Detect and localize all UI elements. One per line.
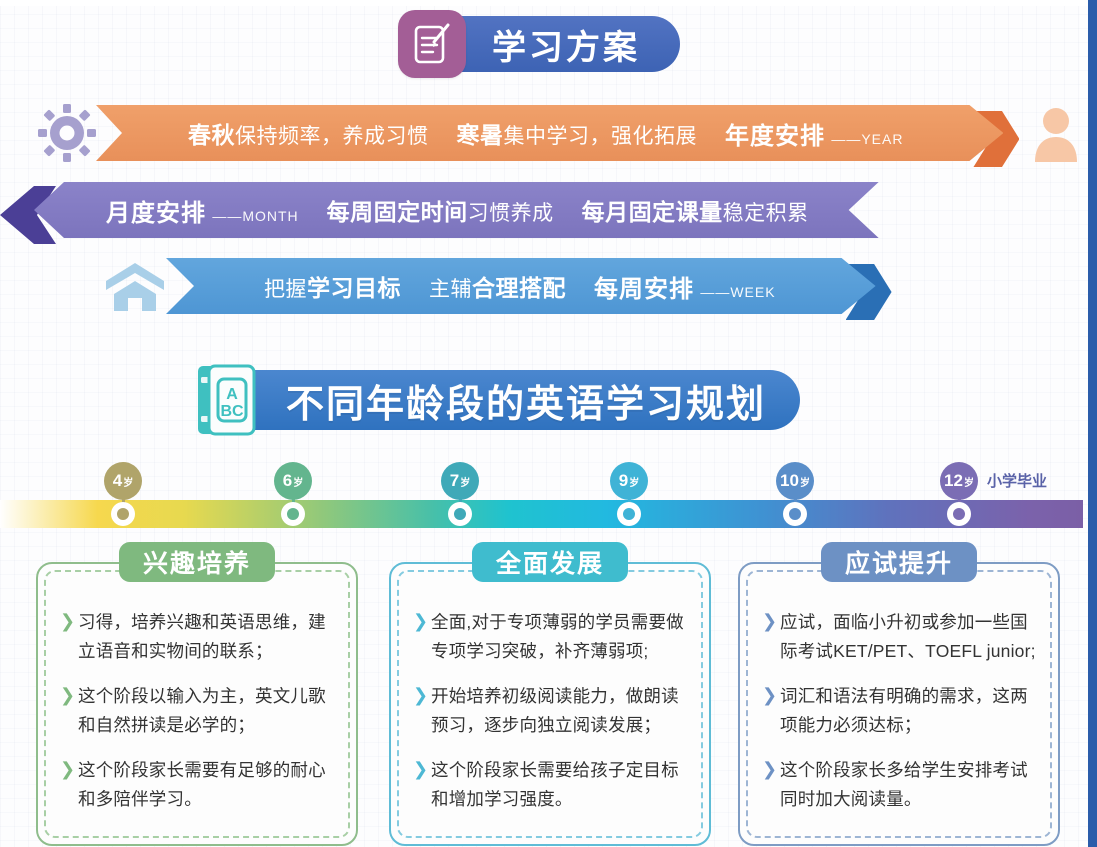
banner-week-seg-2: 主辅合理搭配: [429, 269, 566, 303]
chevron-right-icon: ❯: [762, 756, 780, 782]
timeline-badge-6: 6岁: [274, 462, 312, 500]
timeline-dot-10: [783, 502, 807, 526]
chevron-right-icon: ❯: [60, 682, 78, 708]
stage-card-development: 全面发展 ❯全面,对于专项薄弱的学员需要做专项学习突破，补齐薄弱项; ❯开始培养…: [389, 562, 711, 846]
banner-month-bar: 月度安排 ——MONTH 每周固定时间习惯养成 每月固定课量稳定积累: [34, 182, 879, 238]
book-letter-bottom: BC: [220, 403, 244, 420]
banner-week-title: 每周安排 ——WEEK: [594, 269, 776, 304]
list-item: ❯应试，面临小升初或参加一些国际考试KET/PET、TOEFL junior;: [762, 608, 1042, 666]
timeline-dot-6: [281, 502, 305, 526]
stage-card-exam: 应试提升 ❯应试，面临小升初或参加一些国际考试KET/PET、TOEFL jun…: [738, 562, 1060, 846]
list-item: ❯开始培养初级阅读能力，做朗读预习，逐步向独立阅读发展；: [413, 682, 693, 740]
banner-year-bar: 春秋保持频率，养成习惯 寒暑集中学习，强化拓展 年度安排 ——YEAR: [96, 105, 1003, 161]
chevron-right-icon: ❯: [413, 756, 431, 782]
timeline-end-label: 小学毕业: [987, 470, 1047, 491]
document-pencil-icon: [398, 10, 466, 78]
card2-body: ❯全面,对于专项薄弱的学员需要做专项学习突破，补齐薄弱项; ❯开始培养初级阅读能…: [413, 608, 693, 830]
card3-badge: 应试提升: [821, 542, 977, 582]
banner-year-title: 年度安排 ——YEAR: [725, 116, 903, 151]
list-item: ❯词汇和语法有明确的需求，这两项能力必须达标；: [762, 682, 1042, 740]
banner-month: 月度安排 ——MONTH 每周固定时间习惯养成 每月固定课量稳定积累: [34, 182, 879, 238]
card1-body: ❯习得，培养兴趣和英语思维，建立语音和实物间的联系； ❯这个阶段以输入为主，英文…: [60, 608, 340, 830]
timeline-dot-7: [448, 502, 472, 526]
abc-book-glyph: A BC: [196, 363, 262, 437]
timeline-badge-10: 10岁: [776, 462, 814, 500]
gear-glyph: [38, 104, 96, 162]
list-item: ❯全面,对于专项薄弱的学员需要做专项学习突破，补齐薄弱项;: [413, 608, 693, 666]
banner-year-seg-2: 寒暑集中学习，强化拓展: [457, 116, 698, 150]
chevron-right-icon: ❯: [60, 608, 78, 634]
banner-month-title: 月度安排 ——MONTH: [106, 193, 299, 228]
card2-badge: 全面发展: [472, 542, 628, 582]
top-rail: [0, 0, 1097, 6]
list-item: ❯这个阶段家长需要给孩子定目标和增加学习强度。: [413, 756, 693, 814]
card1-badge: 兴趣培养: [119, 542, 275, 582]
chevron-right-icon: ❯: [762, 608, 780, 634]
banner-month-seg-2: 每月固定课量稳定积累: [582, 193, 809, 227]
row-year: 春秋保持频率，养成习惯 寒暑集中学习，强化拓展 年度安排 ——YEAR: [38, 104, 1081, 162]
banner-year: 春秋保持频率，养成习惯 寒暑集中学习，强化拓展 年度安排 ——YEAR: [96, 105, 1003, 161]
banner-week-bar: 把握学习目标 主辅合理搭配 每周安排 ——WEEK: [166, 258, 876, 314]
chevron-right-icon: ❯: [762, 682, 780, 708]
banner-year-seg-1: 春秋保持频率，养成习惯: [188, 116, 429, 150]
timeline-badge-9: 9岁: [610, 462, 648, 500]
banner-month-seg-1: 每周固定时间习惯养成: [327, 193, 554, 227]
section2-header: A BC 不同年龄段的英语学习规划: [196, 363, 800, 437]
stage-card-interest: 兴趣培养 ❯习得，培养兴趣和英语思维，建立语音和实物间的联系； ❯这个阶段以输入…: [36, 562, 358, 846]
timeline-badge-7: 7岁: [441, 462, 479, 500]
list-item: ❯这个阶段以输入为主，英文儿歌和自然拼读是必学的；: [60, 682, 340, 740]
person-glyph: [1031, 104, 1081, 162]
timeline-dot-4: [111, 502, 135, 526]
person-icon: [1031, 104, 1081, 162]
timeline-gradient-bar: [0, 500, 1083, 528]
book-letter-top: A: [226, 386, 238, 403]
house-icon: [104, 261, 166, 311]
section2-title: 不同年龄段的英语学习规划: [246, 370, 800, 430]
section1-header: 学习方案: [398, 10, 680, 78]
chevron-right-icon: ❯: [60, 756, 78, 782]
section1-title: 学习方案: [444, 16, 680, 72]
card3-body: ❯应试，面临小升初或参加一些国际考试KET/PET、TOEFL junior; …: [762, 608, 1042, 830]
document-pencil-glyph: [411, 22, 453, 66]
banner-week: 把握学习目标 主辅合理搭配 每周安排 ——WEEK: [166, 258, 876, 314]
house-glyph: [104, 261, 166, 311]
list-item: ❯这个阶段家长需要有足够的耐心和多陪伴学习。: [60, 756, 340, 814]
timeline-dot-9: [617, 502, 641, 526]
right-edge-rail: [1088, 0, 1097, 847]
timeline-badge-4: 4岁: [104, 462, 142, 500]
list-item: ❯这个阶段家长多给学生安排考试同时加大阅读量。: [762, 756, 1042, 814]
list-item: ❯习得，培养兴趣和英语思维，建立语音和实物间的联系；: [60, 608, 340, 666]
abc-book-icon: A BC: [196, 363, 262, 437]
gear-icon: [38, 104, 96, 162]
timeline-dot-12: [947, 502, 971, 526]
row-week: 把握学习目标 主辅合理搭配 每周安排 ——WEEK: [104, 258, 876, 314]
chevron-right-icon: ❯: [413, 608, 431, 634]
banner-week-seg-1: 把握学习目标: [264, 269, 401, 303]
chevron-right-icon: ❯: [413, 682, 431, 708]
timeline-badge-12: 12岁: [940, 462, 978, 500]
infographic-canvas: 学习方案 春秋保持频率，养: [0, 0, 1097, 847]
age-timeline: 4岁 6岁 7岁 9岁 10岁 12岁 小学毕业: [0, 462, 1083, 534]
row-month: 月度安排 ——MONTH 每周固定时间习惯养成 每月固定课量稳定积累: [34, 182, 879, 238]
